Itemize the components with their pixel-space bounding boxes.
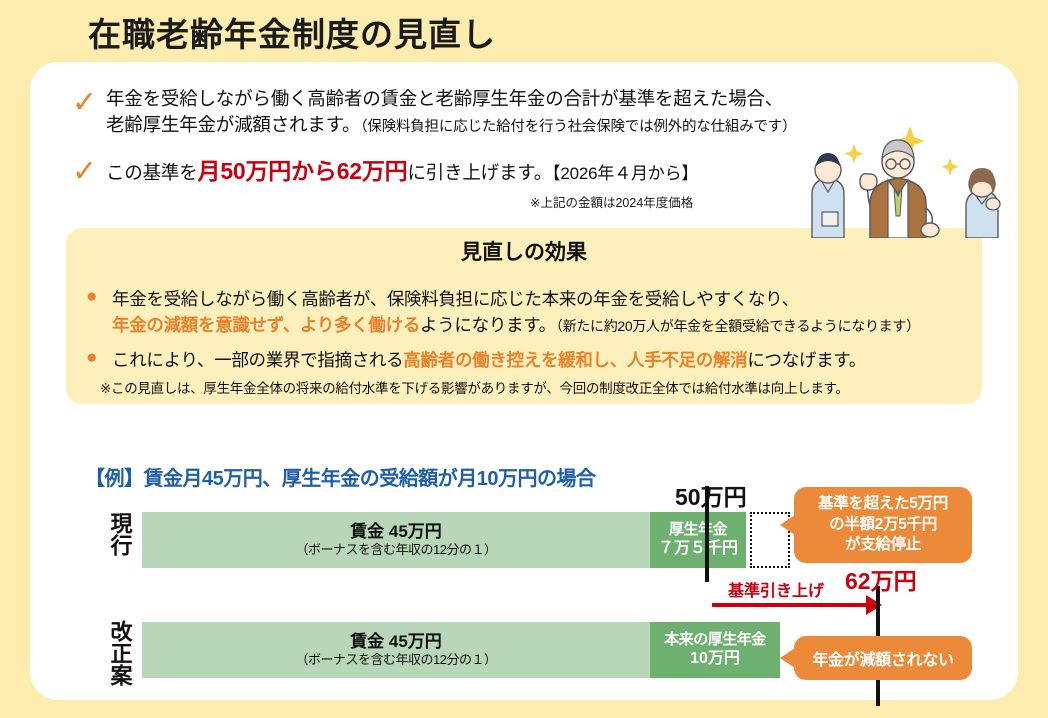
callout-no-reduction: 年金が減額されない (794, 636, 972, 680)
effects-bullet-1-line2: 年金の減額を意識せず、より多く働けるようになります。（新たに約20万人が年金を全… (112, 312, 920, 338)
check-bullet-2: ✓ この基準を月50万円から62万円に引き上げます。【2026年４月から】 (72, 155, 698, 188)
effects-bullet-1-text: 年金を受給しながら働く高齢者が、保険料負担に応じた本来の年金を受給しやすくなり、… (112, 286, 920, 339)
effects-bullet-2-highlight: 高齢者の働き控えを緩和し、人手不足の解消 (403, 350, 747, 370)
check-bullet-2-highlight: 月50万円から62万円 (198, 158, 408, 184)
bullet-dot-icon: ● (86, 347, 112, 370)
people-illustration (790, 118, 1040, 238)
row-label-current: 現行 (92, 512, 148, 561)
threshold-label-new: 62万円 (845, 562, 917, 596)
check-icon: ✓ (72, 88, 106, 118)
example-title: 【例】賃金月45万円、厚生年金の受給額が月10万円の場合 (85, 462, 596, 491)
bar-pension-label-reform: 本来の厚生年金 (664, 631, 766, 649)
check-bullet-2-date: 【2026年４月から】 (552, 164, 698, 183)
title-banner: 在職老齢年金制度の見直し (0, 0, 684, 62)
row-label-current-text: 現行 (108, 512, 131, 556)
infographic-page: 在職老齢年金制度の見直し ✓ 年金を受給しながら働く高齢者の賃金と老齢厚生年金の… (0, 0, 1048, 718)
bar-pension-value-reform: 10万円 (690, 649, 740, 668)
effects-bullet-2-text: これにより、一部の業界で指摘される高齢者の働き控えを緩和し、人手不足の解消につな… (112, 347, 866, 373)
row-label-reform: 改正案 (92, 620, 148, 691)
check-bullet-1-paren: （保険料負担に応じた給付を行う社会保険では例外的な仕組みです） (360, 119, 796, 135)
woman-figure (966, 168, 1000, 238)
check-bullet-1-line1: 年金を受給しながら働く高齢者の賃金と老齢厚生年金の合計が基準を超えた場合、 (106, 86, 796, 112)
check-bullet-2-text: この基準を月50万円から62万円に引き上げます。【2026年４月から】 (106, 155, 698, 188)
callout-no-reduction-text: 年金が減額されない (812, 646, 953, 670)
bar-segment-pension-current: 厚生年金 ７万５千円 (650, 512, 746, 568)
bar-segment-wage-current: 賃金 45万円 （ボーナスを含む年収の12分の１） (142, 512, 650, 568)
effects-bullet-1-line1: 年金を受給しながら働く高齢者が、保険料負担に応じた本来の年金を受給しやすくなり、 (112, 286, 920, 312)
elder-man-figure (860, 140, 939, 238)
check-bullet-1-line2: 老齢厚生年金が減額されます。（保険料負担に応じた給付を行う社会保険では例外的な仕… (106, 112, 796, 138)
effects-bullet-1-paren: （新たに約20万人が年金を全額受給できるようになります） (556, 318, 920, 334)
bar-row-reform: 賃金 45万円 （ボーナスを含む年収の12分の１） 本来の厚生年金 10万円 (142, 622, 780, 678)
bullet-dot-icon: ● (86, 286, 112, 309)
bar-wage-sub-current: （ボーナスを含む年収の12分の１） (296, 542, 497, 558)
bar-wage-main-current: 賃金 45万円 (350, 522, 442, 542)
callout-suspension-line2: の半額2万5千円 (829, 515, 937, 535)
effects-bullet-1-rest: ようになります。 (420, 315, 556, 335)
bar-pension-label-current: 厚生年金 (669, 521, 727, 539)
effects-footnote: ※この見直しは、厚生年金全体の将来の給付水準を下げる影響がありますが、今回の制度… (100, 377, 849, 397)
effects-bullet-1-highlight: 年金の減額を意識せず、より多く働ける (112, 315, 420, 335)
effects-bullet-2: ● これにより、一部の業界で指摘される高齢者の働き控えを緩和し、人手不足の解消に… (86, 347, 866, 373)
page-title: 在職老齢年金制度の見直し (88, 8, 496, 56)
callout-tail-icon (780, 515, 795, 535)
effects-bullet-2-prefix: これにより、一部の業界で指摘される (112, 350, 403, 370)
check-bullet-2-suffix: に引き上げます。 (407, 162, 552, 183)
effects-bullet-1: ● 年金を受給しながら働く高齢者が、保険料負担に応じた本来の年金を受給しやすくな… (86, 286, 920, 339)
young-man-figure (812, 153, 844, 238)
bar-segment-wage-reform: 賃金 45万円 （ボーナスを含む年収の12分の１） (142, 622, 650, 678)
bar-segment-pension-reform: 本来の厚生年金 10万円 (650, 622, 780, 678)
price-year-note: ※上記の金額は2024年度価格 (530, 192, 693, 211)
effects-bullet-2-suffix: につなげます。 (747, 350, 866, 370)
check-bullet-1: ✓ 年金を受給しながら働く高齢者の賃金と老齢厚生年金の合計が基準を超えた場合、 … (72, 86, 796, 139)
threshold-label-current: 50万円 (675, 478, 747, 512)
arrow-label: 基準引き上げ (728, 577, 824, 601)
bar-wage-main-reform: 賃金 45万円 (350, 632, 442, 652)
bar-wage-sub-reform: （ボーナスを含む年収の12分の１） (296, 652, 497, 668)
check-bullet-1-line2-main: 老齢厚生年金が減額されます。 (106, 114, 360, 135)
bar-pension-value-current: ７万５千円 (658, 539, 738, 558)
check-bullet-1-text: 年金を受給しながら働く高齢者の賃金と老齢厚生年金の合計が基準を超えた場合、 老齢… (106, 86, 796, 139)
check-icon: ✓ (72, 157, 106, 187)
callout-suspension-line3: が支給停止 (845, 535, 921, 555)
row-label-reform-text: 改正案 (108, 620, 131, 686)
callout-suspension-line1: 基準を超えた5万円 (818, 494, 948, 514)
threshold-raise-arrow (712, 603, 872, 607)
bar-row-current: 賃金 45万円 （ボーナスを含む年収の12分の１） 厚生年金 ７万５千円 (142, 512, 746, 568)
callout-tail-icon (780, 648, 795, 668)
effects-title: 見直しの効果 (66, 236, 982, 266)
check-bullet-2-prefix: この基準を (106, 162, 198, 183)
callout-suspension: 基準を超えた5万円 の半額2万5千円 が支給停止 (794, 487, 972, 563)
